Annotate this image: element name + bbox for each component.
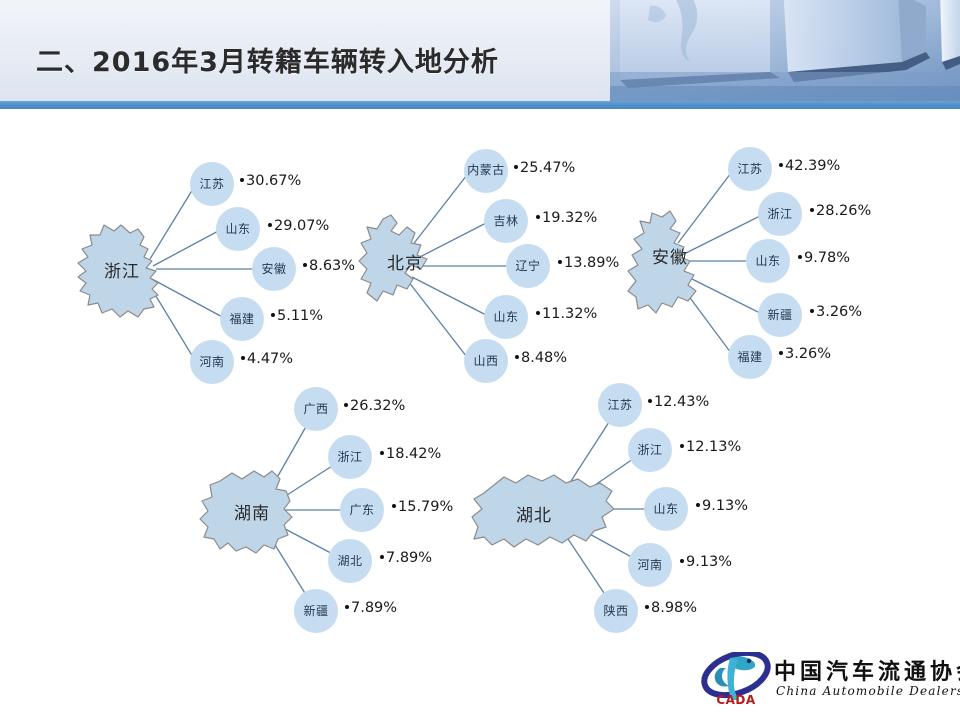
value-bullet [268, 223, 272, 227]
value-anhui-3: 3.26% [810, 304, 862, 320]
value-zhejiang-1: 29.07% [268, 218, 329, 234]
value-bullet [779, 163, 783, 167]
hub-label-beijing: 北京 [355, 249, 455, 274]
value-bullet [380, 451, 384, 455]
node-hunan-0[interactable]: 广西 [294, 387, 338, 431]
value-beijing-1: 19.32% [536, 210, 597, 226]
node-beijing-3[interactable]: 山东 [484, 295, 528, 339]
value-beijing-3: 11.32% [536, 306, 597, 322]
connector-lines [0, 109, 960, 720]
hub-label-hubei: 湖北 [470, 501, 598, 526]
node-zhejiang-2[interactable]: 安徽 [252, 247, 296, 291]
value-bullet [810, 309, 814, 313]
value-anhui-2: 9.78% [798, 250, 850, 266]
value-hunan-1: 18.42% [380, 446, 441, 462]
node-beijing-2[interactable]: 辽宁 [506, 244, 550, 288]
value-hubei-3: 9.13% [680, 554, 732, 570]
header-decoration-image [610, 0, 960, 101]
slide-header: 二、2016年3月转籍车辆转入地分析 [0, 0, 960, 101]
value-beijing-4: 8.48% [515, 350, 567, 366]
value-bullet [798, 255, 802, 259]
value-hunan-3: 7.89% [380, 550, 432, 566]
hub-label-hunan: 湖南 [198, 499, 306, 524]
value-anhui-0: 42.39% [779, 158, 840, 174]
value-hunan-2: 15.79% [392, 499, 453, 515]
node-hubei-3[interactable]: 河南 [628, 543, 672, 587]
logo-chinese-name: 中国汽车流通协会 [774, 654, 960, 686]
value-bullet [380, 555, 384, 559]
hub-label-zhejiang: 浙江 [74, 257, 170, 282]
node-beijing-4[interactable]: 山西 [464, 339, 508, 383]
node-hunan-1[interactable]: 浙江 [328, 435, 372, 479]
node-anhui-0[interactable]: 江苏 [728, 147, 772, 191]
value-bullet [645, 605, 649, 609]
node-anhui-4[interactable]: 福建 [728, 335, 772, 379]
node-zhejiang-4[interactable]: 河南 [190, 340, 234, 384]
cada-logo-icon: CADA [700, 652, 774, 706]
value-hunan-4: 7.89% [345, 600, 397, 616]
node-anhui-2[interactable]: 山东 [746, 239, 790, 283]
value-hubei-1: 12.13% [680, 439, 741, 455]
value-hubei-0: 12.43% [648, 394, 709, 410]
value-bullet [392, 504, 396, 508]
logo-english-name: China Automobile Dealers Association [776, 684, 960, 698]
value-zhejiang-0: 30.67% [240, 173, 301, 189]
node-zhejiang-3[interactable]: 福建 [220, 297, 264, 341]
value-bullet [779, 351, 783, 355]
node-hunan-4[interactable]: 新疆 [294, 589, 338, 633]
value-bullet [648, 399, 652, 403]
value-bullet [536, 311, 540, 315]
value-bullet [241, 356, 245, 360]
value-beijing-0: 25.47% [514, 160, 575, 176]
value-anhui-4: 3.26% [779, 346, 831, 362]
diagram-canvas: 浙江 江苏 30.67% 山东 29.07% 安徽 8.63% 福建 5.11%… [0, 109, 960, 720]
hub-label-anhui: 安徽 [624, 243, 716, 268]
node-hubei-0[interactable]: 江苏 [598, 383, 642, 427]
node-hunan-2[interactable]: 广东 [340, 488, 384, 532]
cada-abbr-text: CADA [716, 693, 756, 706]
value-bullet [696, 503, 700, 507]
value-bullet [558, 260, 562, 264]
value-bullet [515, 355, 519, 359]
footer-logo: CADA 中国汽车流通协会 China Automobile Dealers A… [700, 648, 950, 710]
value-beijing-2: 13.89% [558, 255, 619, 271]
value-bullet [810, 208, 814, 212]
value-zhejiang-3: 5.11% [271, 308, 323, 324]
node-anhui-3[interactable]: 新疆 [758, 293, 802, 337]
value-anhui-1: 28.26% [810, 203, 871, 219]
node-beijing-0[interactable]: 内蒙古 [464, 149, 508, 193]
value-bullet [536, 215, 540, 219]
value-bullet [240, 178, 244, 182]
value-bullet [680, 444, 684, 448]
value-bullet [303, 263, 307, 267]
node-anhui-1[interactable]: 浙江 [758, 192, 802, 236]
node-zhejiang-0[interactable]: 江苏 [190, 162, 234, 206]
node-beijing-1[interactable]: 吉林 [484, 199, 528, 243]
value-bullet [271, 313, 275, 317]
value-bullet [680, 559, 684, 563]
value-bullet [514, 165, 518, 169]
node-hunan-3[interactable]: 湖北 [328, 539, 372, 583]
header-accent-bar [0, 101, 960, 109]
value-zhejiang-2: 8.63% [303, 258, 355, 274]
value-bullet [344, 403, 348, 407]
value-hubei-2: 9.13% [696, 498, 748, 514]
value-bullet [345, 605, 349, 609]
page-title: 二、2016年3月转籍车辆转入地分析 [36, 40, 499, 79]
node-zhejiang-1[interactable]: 山东 [216, 207, 260, 251]
node-hubei-1[interactable]: 浙江 [628, 428, 672, 472]
value-hubei-4: 8.98% [645, 600, 697, 616]
value-zhejiang-4: 4.47% [241, 351, 293, 367]
node-hubei-4[interactable]: 陕西 [594, 589, 638, 633]
node-hubei-2[interactable]: 山东 [644, 487, 688, 531]
value-hunan-0: 26.32% [344, 398, 405, 414]
